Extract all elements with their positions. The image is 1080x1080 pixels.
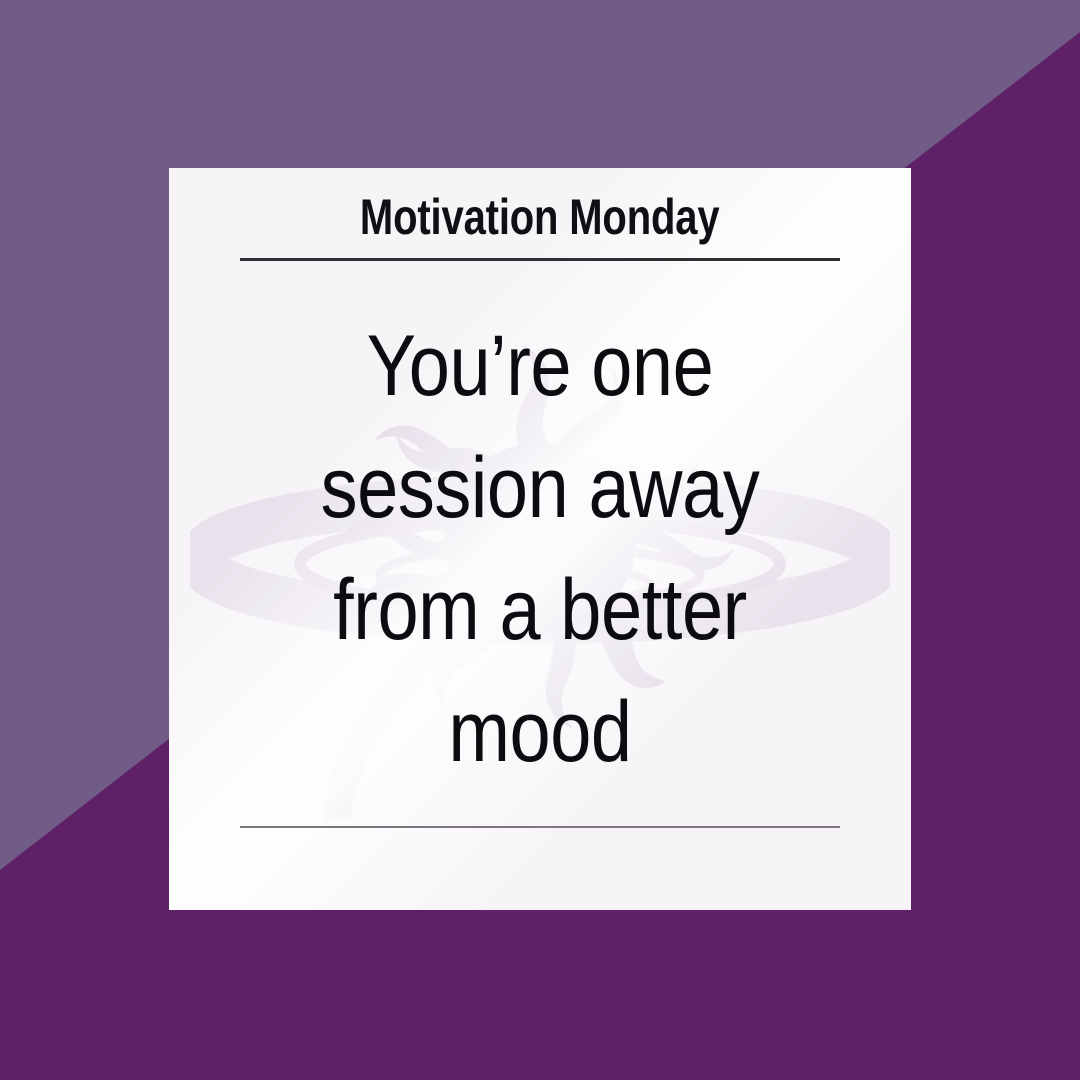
card-content: Motivation Monday You’re one session awa… — [169, 168, 911, 910]
quote-line-4: mood — [247, 671, 834, 793]
quote-card: Motivation Monday You’re one session awa… — [169, 168, 911, 910]
quote-line-1: You’re one — [247, 305, 834, 427]
quote-text: You’re one session away from a better mo… — [199, 305, 881, 793]
divider-bottom — [240, 826, 840, 828]
quote-card-canvas: Motivation Monday You’re one session awa… — [0, 0, 1080, 1080]
divider-top — [240, 258, 840, 261]
page-title: Motivation Monday — [360, 190, 719, 244]
quote-line-2: session away — [247, 427, 834, 549]
quote-line-3: from a better — [247, 549, 834, 671]
